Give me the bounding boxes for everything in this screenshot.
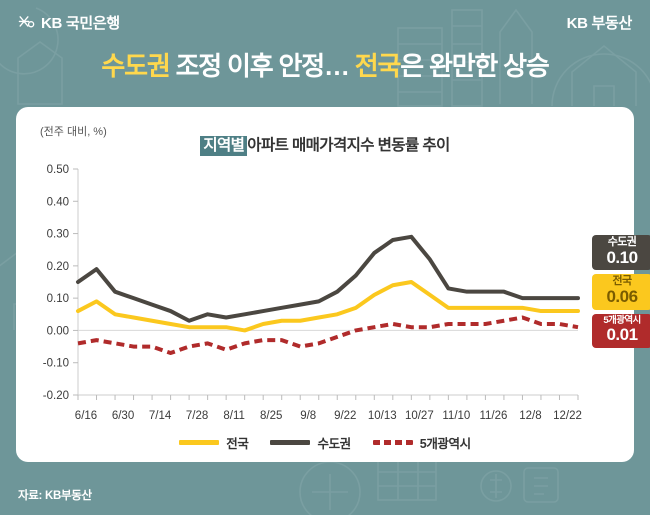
- chart-card: (전주 대비, %) 지역별아파트 매매가격지수 변동률 추이 0.500.40…: [16, 107, 634, 462]
- x-axis-tick-label: 8/11: [223, 410, 245, 422]
- x-axis-tick-label: 12/22: [553, 410, 582, 422]
- legend-swatch-five-metro-cities: [373, 440, 413, 445]
- y-axis-tick-label: 0.20: [47, 261, 69, 273]
- legend-label-nationwide: 전국: [226, 433, 248, 452]
- y-axis-tick-label: 0.10: [47, 293, 69, 305]
- legend-swatch-capital-region: [270, 440, 310, 445]
- headline-text-1: 조정 이후 안정…: [170, 51, 355, 81]
- legend-label-five-metro-cities: 5개광역시: [420, 433, 471, 452]
- x-axis-tick-label: 12/8: [519, 410, 541, 422]
- x-axis-tick-label: 11/10: [442, 410, 470, 422]
- top-bar: KB 국민은행 KB 부동산: [0, 0, 650, 45]
- x-axis-tick-label: 11/26: [479, 410, 507, 422]
- headline-highlight-2: 전국: [355, 51, 400, 81]
- badge-capital-name: 수도권: [592, 237, 650, 249]
- legend-item-nationwide: 전국: [179, 433, 248, 452]
- y-axis-tick-label: 0.50: [47, 164, 69, 176]
- line-chart-svg: 0.500.400.300.200.100.00-0.10-0.206/166/…: [16, 107, 634, 462]
- badge-five-metro-value: 0.01: [592, 326, 650, 344]
- legend-swatch-nationwide: [179, 440, 219, 445]
- infographic-root: KB 국민은행 KB 부동산 수도권 조정 이후 안정… 전국은 완만한 상승 …: [0, 0, 650, 515]
- badge-capital-value: 0.10: [592, 249, 650, 267]
- badge-nationwide-value: 0.06: [592, 288, 650, 306]
- kb-brand-label: KB 부동산: [567, 12, 632, 33]
- x-axis-tick-label: 10/13: [368, 410, 397, 422]
- x-axis-tick-label: 9/8: [300, 410, 316, 422]
- x-axis-tick-label: 6/16: [75, 410, 97, 422]
- y-axis-tick-label: 0.40: [47, 196, 69, 208]
- x-axis-tick-label: 9/22: [334, 410, 356, 422]
- headline-highlight-1: 수도권: [101, 51, 169, 81]
- legend-item-capital-region: 수도권: [270, 433, 350, 452]
- y-axis-tick-label: -0.20: [43, 390, 69, 402]
- kb-star-icon: [18, 14, 35, 31]
- badge-nationwide: 전국 0.06: [592, 274, 650, 309]
- source-note: 자료: KB부동산: [18, 487, 92, 503]
- x-axis-tick-label: 7/28: [186, 410, 208, 422]
- y-axis-tick-label: 0.00: [47, 325, 69, 337]
- x-axis-tick-label: 8/25: [260, 410, 282, 422]
- x-axis-tick-label: 10/27: [405, 410, 434, 422]
- x-axis-tick-label: 6/30: [112, 410, 134, 422]
- kb-logo-text: KB 국민은행: [41, 12, 120, 33]
- headline: 수도권 조정 이후 안정… 전국은 완만한 상승: [0, 46, 650, 83]
- legend-item-five-metro-cities: 5개광역시: [373, 433, 471, 452]
- chart-legend: 전국 수도권 5개광역시: [16, 433, 634, 452]
- y-axis-tick-label: -0.10: [43, 358, 69, 370]
- y-axis-tick-label: 0.30: [47, 229, 69, 241]
- x-axis-tick-label: 7/14: [149, 410, 172, 422]
- headline-text-2: 은 완만한 상승: [400, 51, 548, 81]
- plot-area: 0.500.400.300.200.100.00-0.10-0.206/166/…: [16, 107, 634, 462]
- kb-logo: KB 국민은행: [18, 12, 120, 33]
- badge-capital-region: 수도권 0.10: [592, 235, 650, 270]
- legend-label-capital-region: 수도권: [317, 433, 350, 452]
- value-badge-group: 수도권 0.10 전국 0.06 5개광역시 0.01: [592, 235, 650, 348]
- badge-five-metro-cities: 5개광역시 0.01: [592, 314, 650, 348]
